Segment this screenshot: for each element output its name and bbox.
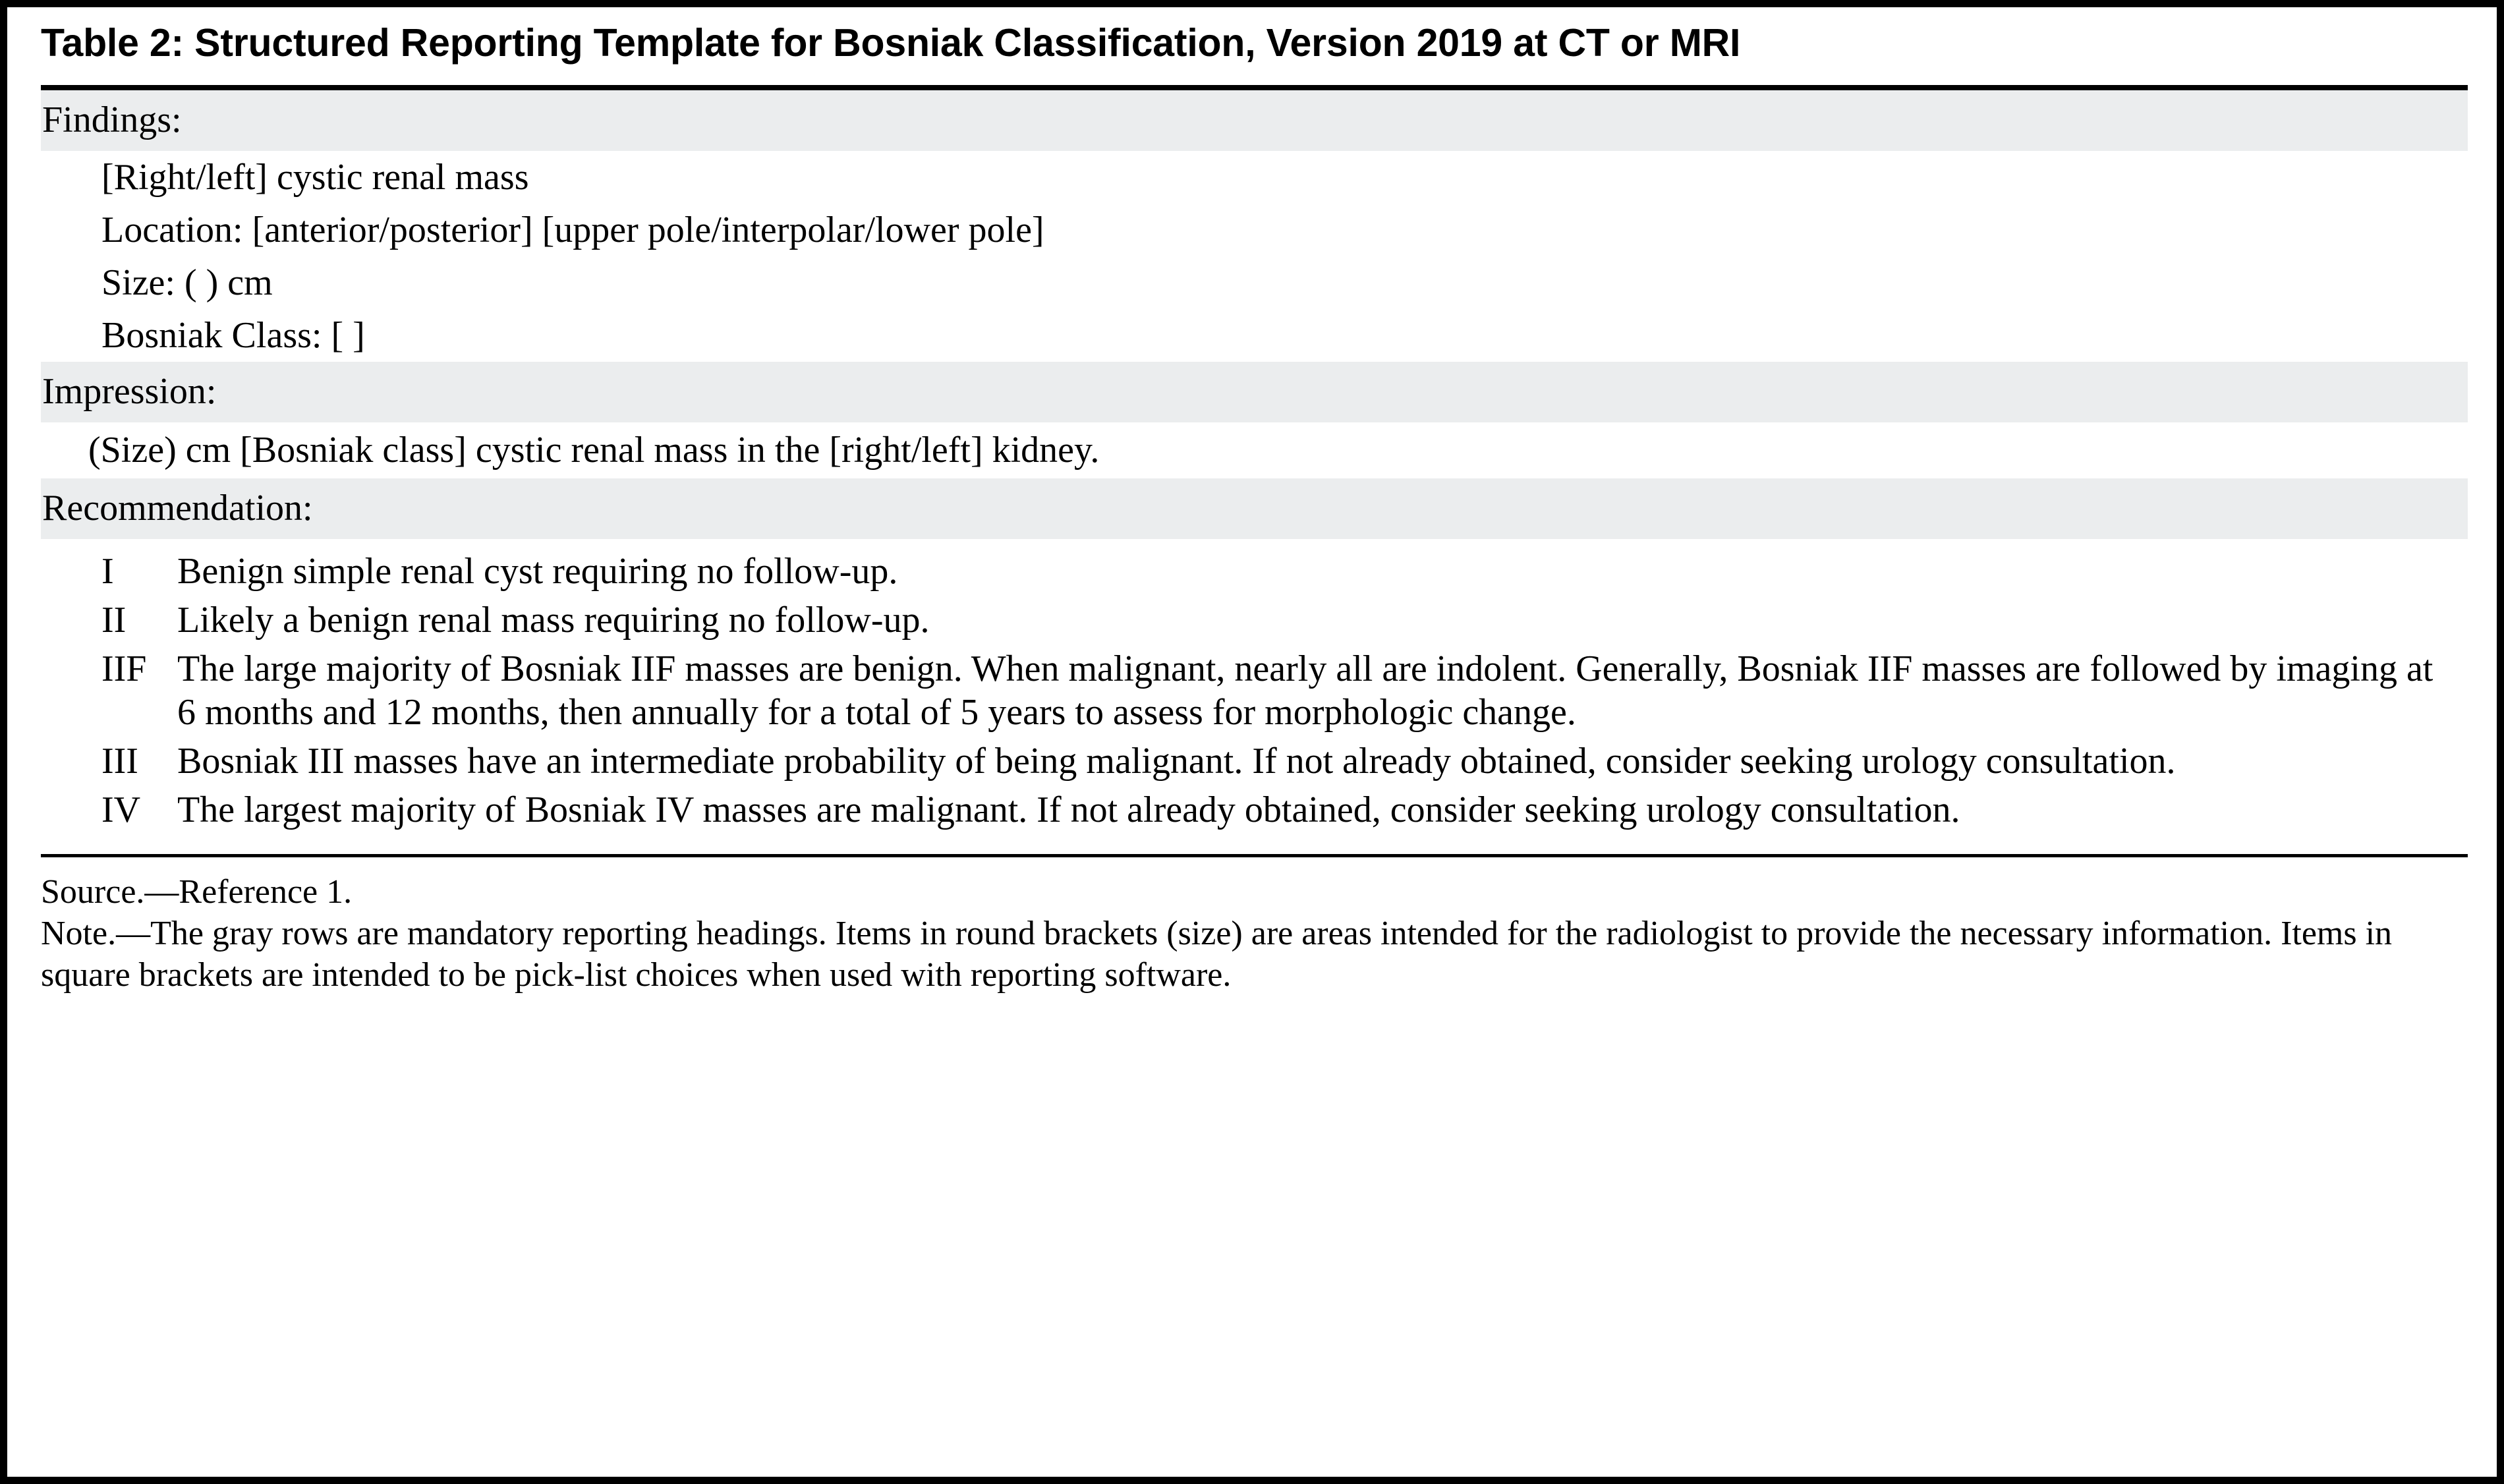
table-body: Findings: [Right/left] cystic renal mass… bbox=[41, 90, 2468, 843]
findings-item-label: Location: [anterior/posterior] [upper po… bbox=[41, 212, 2468, 248]
footnote-source: Source.—Reference 1. bbox=[41, 872, 2468, 913]
recommendation-row: I Benign simple renal cyst requiring no … bbox=[41, 550, 2468, 593]
table-figure: Table 2: Structured Reporting Template f… bbox=[0, 0, 2504, 1484]
recommendation-text: The largest majority of Bosniak IV masse… bbox=[177, 788, 2468, 832]
recommendation-row: II Likely a benign renal mass requiring … bbox=[41, 598, 2468, 642]
bosniak-class-label: II bbox=[41, 598, 177, 642]
section-heading-label: Findings: bbox=[41, 101, 2468, 138]
section-heading-findings: Findings: bbox=[41, 90, 2468, 151]
impression-item-label: (Size) cm [Bosniak class] cystic renal m… bbox=[41, 432, 2468, 469]
recommendation-text: Bosniak III masses have an intermediate … bbox=[177, 739, 2468, 783]
table-footnotes: Source.—Reference 1. Note.—The gray rows… bbox=[41, 857, 2468, 996]
recommendation-text: Likely a benign renal mass requiring no … bbox=[177, 598, 2468, 642]
findings-item-label: Bosniak Class: [ ] bbox=[41, 317, 2468, 354]
title-divider-rule bbox=[41, 85, 2468, 90]
recommendation-row: IIF The large majority of Bosniak IIF ma… bbox=[41, 647, 2468, 734]
table-inner: Table 2: Structured Reporting Template f… bbox=[7, 7, 2497, 1477]
findings-item: Bosniak Class: [ ] bbox=[41, 309, 2468, 362]
section-heading-label: Recommendation: bbox=[41, 490, 2468, 527]
findings-item: Size: ( ) cm bbox=[41, 256, 2468, 309]
bosniak-class-label: III bbox=[41, 739, 177, 783]
section-heading-impression: Impression: bbox=[41, 362, 2468, 422]
footnote-note: Note.—The gray rows are mandatory report… bbox=[41, 913, 2468, 996]
section-heading-recommendation: Recommendation: bbox=[41, 478, 2468, 539]
findings-item: Location: [anterior/posterior] [upper po… bbox=[41, 204, 2468, 256]
bosniak-class-label: IV bbox=[41, 788, 177, 832]
page-title: Table 2: Structured Reporting Template f… bbox=[41, 23, 2470, 64]
impression-item: (Size) cm [Bosniak class] cystic renal m… bbox=[41, 422, 2468, 478]
recommendation-row: IV The largest majority of Bosniak IV ma… bbox=[41, 788, 2468, 832]
table-title-zone: Table 2: Structured Reporting Template f… bbox=[41, 7, 2470, 71]
recommendation-row: III Bosniak III masses have an intermedi… bbox=[41, 739, 2468, 783]
recommendation-text: The large majority of Bosniak IIF masses… bbox=[177, 647, 2468, 734]
findings-item-label: [Right/left] cystic renal mass bbox=[41, 159, 2468, 196]
section-heading-label: Impression: bbox=[41, 373, 2468, 410]
bosniak-class-label: IIF bbox=[41, 647, 177, 691]
recommendation-text: Benign simple renal cyst requiring no fo… bbox=[177, 550, 2468, 593]
bosniak-class-label: I bbox=[41, 550, 177, 593]
findings-item-label: Size: ( ) cm bbox=[41, 264, 2468, 301]
findings-item: [Right/left] cystic renal mass bbox=[41, 151, 2468, 204]
recommendation-list: I Benign simple renal cyst requiring no … bbox=[41, 539, 2468, 843]
